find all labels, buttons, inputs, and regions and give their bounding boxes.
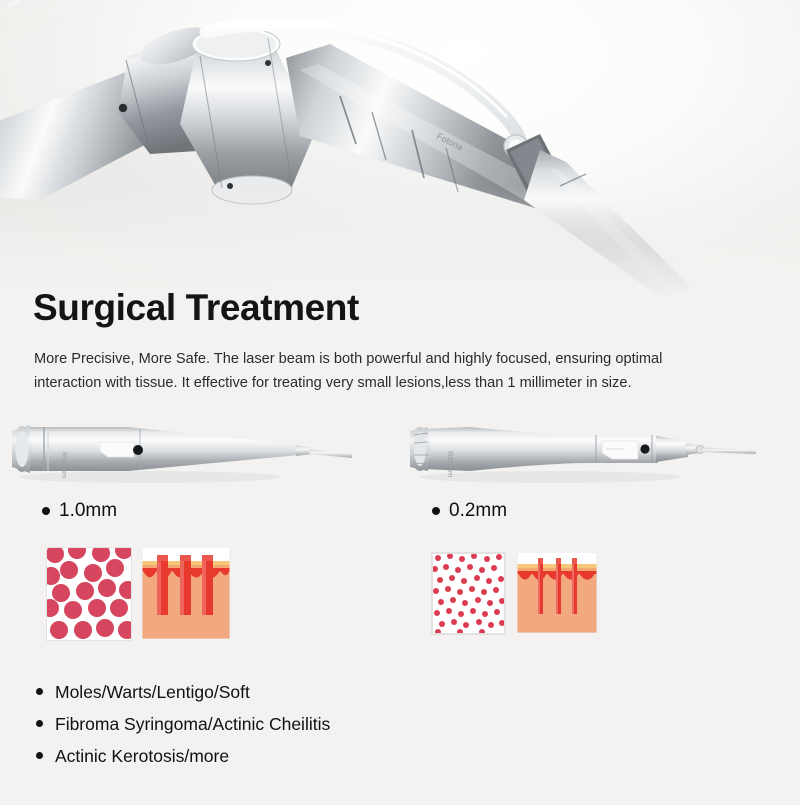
- indication-text: Moles/Warts/Lentigo/Soft: [55, 676, 250, 708]
- spot-pattern-02mm: [431, 552, 506, 635]
- bullet-icon: [36, 752, 43, 759]
- indication-text: Actinic Kerotosis/more: [55, 740, 229, 772]
- list-item: Moles/Warts/Lentigo/Soft: [36, 676, 330, 708]
- indications-ul: Moles/Warts/Lentigo/Soft Fibroma Syringo…: [36, 676, 330, 772]
- spot-size-label-02mm: 0.2mm: [432, 500, 507, 522]
- spot-block-1mm: R10mm: [0, 405, 400, 490]
- handpiece-02mm: R50mm: [400, 405, 800, 490]
- spot-size-value: 0.2mm: [449, 500, 507, 522]
- hero-image: Fotona: [0, 0, 800, 300]
- bullet-icon: [42, 507, 50, 515]
- intro-line-1: More Precisive, More Safe. The laser bea…: [34, 351, 662, 367]
- spot-size-label-1mm: 1.0mm: [42, 500, 117, 522]
- product-feature-page: Fotona Surgical Treatment More Precisive…: [0, 0, 800, 805]
- page-title: Surgical Treatment: [33, 286, 359, 330]
- bullet-icon: [36, 688, 43, 695]
- hero-bottom-fade: [0, 0, 800, 300]
- panel-border: [432, 553, 505, 634]
- list-item: Actinic Kerotosis/more: [36, 740, 330, 772]
- intro-paragraph: More Precisive, More Safe. The laser bea…: [34, 347, 754, 395]
- skin-diagrams-02mm: [431, 552, 597, 635]
- skin-cross-section-02mm: [517, 552, 597, 633]
- svg-text:R10mm: R10mm: [60, 452, 69, 478]
- spot-block-02mm: R50mm: [400, 405, 800, 490]
- svg-text:R50mm: R50mm: [446, 451, 455, 477]
- bullet-icon: [432, 507, 440, 515]
- indications-list: Moles/Warts/Lentigo/Soft Fibroma Syringo…: [36, 676, 330, 772]
- list-item: Fibroma Syringoma/Actinic Cheilitis: [36, 708, 330, 740]
- spot-size-value: 1.0mm: [59, 500, 117, 522]
- skin-cross-section-1mm: [142, 547, 230, 639]
- indication-text: Fibroma Syringoma/Actinic Cheilitis: [55, 708, 330, 740]
- handpiece-1mm: R10mm: [0, 405, 400, 490]
- bullet-icon: [36, 720, 43, 727]
- skin-diagrams-1mm: [46, 547, 230, 641]
- spot-pattern-1mm: [46, 547, 132, 641]
- intro-line-2: interaction with tissue. It effective fo…: [34, 371, 754, 395]
